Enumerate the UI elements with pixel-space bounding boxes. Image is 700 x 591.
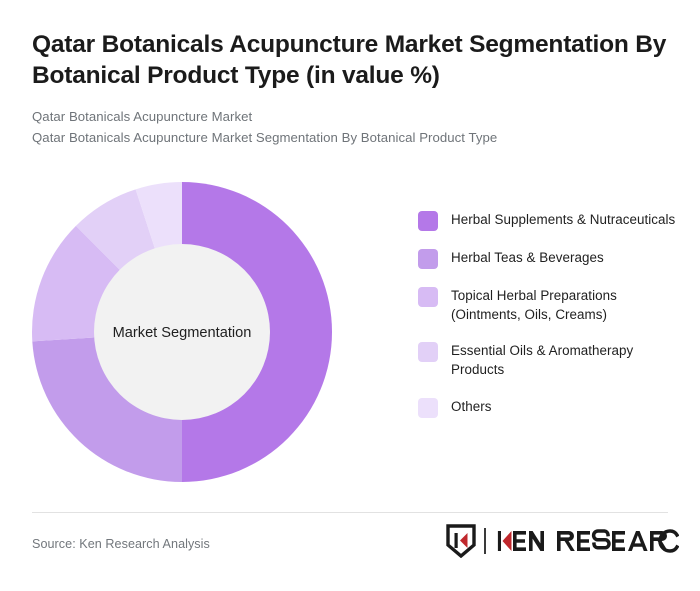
- legend-label: Herbal Supplements & Nutraceuticals: [451, 210, 675, 229]
- legend-item[interactable]: Topical Herbal Preparations (Ointments, …: [418, 286, 680, 324]
- legend-swatch-icon: [418, 342, 438, 362]
- chart-area: Market Segmentation Herbal Supplements &…: [0, 172, 700, 497]
- donut-center-label: Market Segmentation: [113, 325, 252, 341]
- ken-research-logo: [446, 524, 679, 558]
- chart-legend: Herbal Supplements & NutraceuticalsHerba…: [418, 210, 680, 418]
- page-title: Qatar Botanicals Acupuncture Market Segm…: [32, 30, 668, 92]
- chart-card: Qatar Botanicals Acupuncture Market Segm…: [0, 0, 700, 591]
- donut-chart: Market Segmentation: [32, 182, 332, 482]
- legend-swatch-icon: [418, 398, 438, 418]
- legend-item[interactable]: Herbal Teas & Beverages: [418, 248, 680, 269]
- ken-shield-icon: [446, 524, 476, 558]
- legend-label: Topical Herbal Preparations (Ointments, …: [451, 286, 680, 324]
- legend-item[interactable]: Others: [418, 397, 680, 418]
- legend-item[interactable]: Essential Oils & Aromatherapy Products: [418, 341, 680, 379]
- legend-item[interactable]: Herbal Supplements & Nutraceuticals: [418, 210, 680, 231]
- legend-label: Essential Oils & Aromatherapy Products: [451, 341, 680, 379]
- ken-research-wordmark: [493, 528, 679, 554]
- chart-header: Qatar Botanicals Acupuncture Market Segm…: [32, 30, 668, 148]
- source-note: Source: Ken Research Analysis: [32, 537, 210, 551]
- legend-label: Others: [451, 397, 492, 416]
- donut-svg: Market Segmentation: [32, 182, 332, 482]
- legend-label: Herbal Teas & Beverages: [451, 248, 604, 267]
- logo-divider: [484, 528, 486, 554]
- subtitle-primary: Qatar Botanicals Acupuncture Market: [32, 107, 668, 128]
- legend-swatch-icon: [418, 211, 438, 231]
- footer-divider: [32, 512, 668, 513]
- legend-swatch-icon: [418, 249, 438, 269]
- subtitle-block: Qatar Botanicals Acupuncture Market Qata…: [32, 107, 668, 149]
- legend-swatch-icon: [418, 287, 438, 307]
- subtitle-secondary: Qatar Botanicals Acupuncture Market Segm…: [32, 128, 668, 149]
